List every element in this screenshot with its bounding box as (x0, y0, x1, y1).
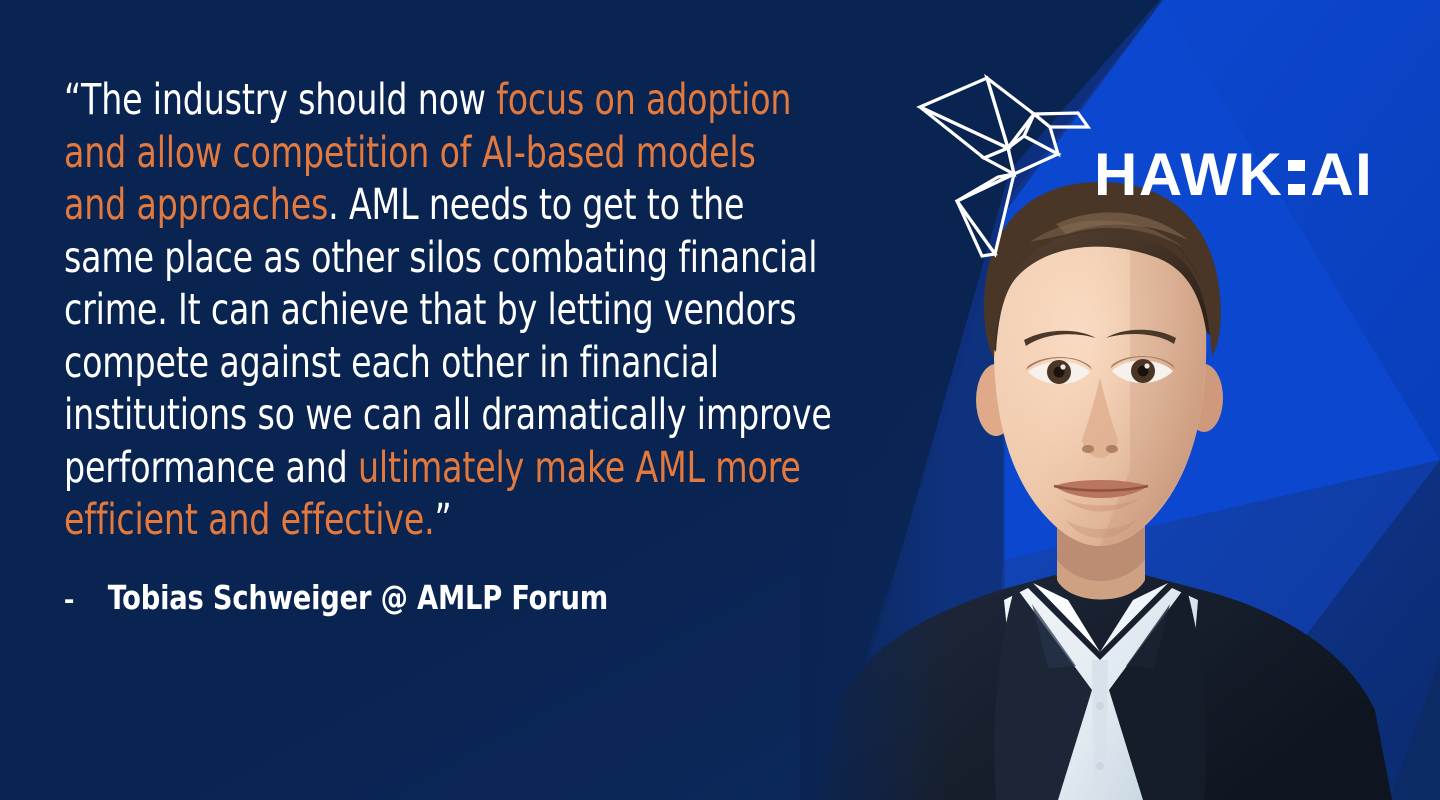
quote-seg-highlight: efficient and effective. (64, 495, 435, 545)
quote-line-6: compete against each other in financial (64, 337, 795, 390)
wordmark-colon-icon (1288, 155, 1305, 198)
quote-seg: institutions so we can all dramatically … (64, 390, 832, 440)
nostril-right (1106, 445, 1118, 453)
quote-text: “The industry should now focus on adopti… (64, 74, 914, 547)
quote-graphic: “The industry should now focus on adopti… (0, 0, 1440, 800)
wordmark-ai: AI (1310, 145, 1373, 205)
quote-seg: crime. It can achieve that by letting ve… (64, 285, 796, 335)
hawk-origami-bird-icon (912, 70, 1102, 260)
quote-line-4: same place as other silos combating fina… (64, 232, 795, 285)
hawk-ai-wordmark: HAWK AI (1094, 145, 1373, 205)
quote-seg: performance and (64, 443, 358, 493)
quote-seg: compete against each other in financial (64, 338, 719, 388)
attribution-name: Tobias Schweiger @ AMLP Forum (108, 578, 608, 617)
quote-seg-highlight: and allow competition of AI-based models (64, 128, 756, 178)
quote-seg: . AML needs to get to the (328, 180, 744, 230)
quote-line-2: and allow competition of AI-based models (64, 127, 795, 180)
quote-seg-highlight: focus on adoption (496, 75, 791, 125)
quote-line-9: efficient and effective.” (64, 494, 795, 547)
quote-line-5: crime. It can achieve that by letting ve… (64, 284, 795, 337)
quote-seg-highlight: ultimately make AML more (358, 443, 801, 493)
quote-line-8: performance and ultimately make AML more (64, 442, 795, 495)
quote-line-1: “The industry should now focus on adopti… (64, 74, 795, 127)
quote-line-3: and approaches. AML needs to get to the (64, 179, 795, 232)
quote-seg: ” (435, 495, 452, 545)
shirt-placket (1092, 660, 1108, 800)
nostril-left (1082, 445, 1094, 453)
eye-glint-right (1144, 363, 1149, 368)
hawk-ai-logo[interactable]: HAWK AI (912, 62, 1382, 272)
quote-line-7: institutions so we can all dramatically … (64, 389, 795, 442)
quote-seg: same place as other silos combating fina… (64, 233, 817, 283)
attribution-dash: - (64, 581, 74, 617)
eye-glint-left (1060, 364, 1065, 369)
shirt-button-2 (1096, 762, 1104, 770)
wordmark-hawk: HAWK (1094, 145, 1283, 205)
quote-seg: “The industry should now (64, 75, 496, 125)
quote-attribution: - Tobias Schweiger @ AMLP Forum (64, 578, 630, 617)
quote-seg-highlight: and approaches (64, 180, 328, 230)
shirt-button-1 (1096, 702, 1104, 710)
